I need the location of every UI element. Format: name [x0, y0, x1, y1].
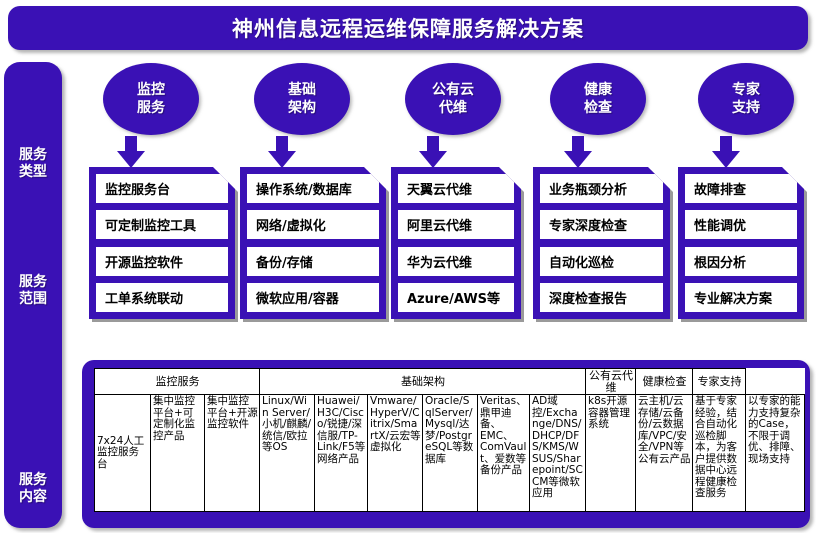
table-header-expert-support: 专家支持 [693, 369, 746, 395]
table-cell: 云主机/云存储/云备份/云数据库/VPC/安全/VPN等公有云产品 [636, 395, 693, 512]
scope-item[interactable]: 微软应用/容器 [247, 283, 379, 312]
scope-card-expert-support: 故障排查 性能调优 根因分析 专业解决方案 [678, 167, 804, 319]
sidebar: 服务 类型 服务 范围 服务 内容 [4, 62, 62, 528]
sidebar-item-service-type: 服务 类型 [4, 147, 62, 181]
scope-item[interactable]: 开源监控软件 [96, 247, 228, 276]
scope-card-infrastructure: 操作系统/数据库 网络/虚拟化 备份/存储 微软应用/容器 [240, 167, 386, 319]
table-cell: k8s开源容器管理系统 [586, 395, 636, 512]
table-header-public-cloud: 公有云代维 [586, 369, 636, 395]
scope-card-public-cloud: 天翼云代维 阿里云代维 华为云代维 Azure/AWS等 [391, 167, 521, 319]
service-type-ellipse-infrastructure[interactable]: 基础架构 [254, 63, 350, 135]
service-content-panel: 监控服务 基础架构 公有云代维 健康检查 专家支持 7x24人工监控服务台 集中… [82, 360, 810, 528]
sidebar-item-service-content-line2: 内容 [4, 489, 62, 506]
table-cell: 7x24人工监控服务台 [95, 395, 151, 512]
table-cell: Veritas、鼎甲迪备、EMC、ComVault、爱数等备份产品 [478, 395, 530, 512]
scope-item[interactable]: 监控服务台 [96, 174, 228, 203]
down-arrow-icon-5 [712, 136, 740, 168]
sidebar-item-service-scope-line2: 范围 [4, 291, 62, 308]
scope-item[interactable]: 专业解决方案 [685, 283, 797, 312]
scope-card-monitoring: 监控服务台 可定制监控工具 开源监控软件 工单系统联动 [89, 167, 235, 319]
service-content-table: 监控服务 基础架构 公有云代维 健康检查 专家支持 7x24人工监控服务台 集中… [94, 368, 805, 512]
scope-item[interactable]: 故障排查 [685, 174, 797, 203]
table-cell: Huawei/H3C/Cisco/锐捷/深信服/TP-Link/F5等网络产品 [315, 395, 368, 512]
scope-item[interactable]: 业务瓶颈分析 [540, 174, 663, 203]
scope-item[interactable]: 工单系统联动 [96, 283, 228, 312]
sidebar-item-service-content-line1: 服务 [4, 472, 62, 489]
scope-item[interactable]: 天翼云代维 [398, 174, 514, 203]
scope-item[interactable]: Azure/AWS等 [398, 283, 514, 312]
service-type-ellipse-expert-support-label: 专家支持 [732, 81, 760, 117]
table-cell: Vmware/HyperV/Citrix/SmartX/云宏等虚拟化 [368, 395, 423, 512]
table-cell: 集中监控平台+可定制化监控产品 [151, 395, 205, 512]
scope-item[interactable]: 备份/存储 [247, 247, 379, 276]
scope-item[interactable]: 性能调优 [685, 210, 797, 239]
service-type-ellipse-monitoring-label: 监控服务 [137, 81, 165, 117]
scope-item[interactable]: 根因分析 [685, 247, 797, 276]
service-type-ellipse-monitoring[interactable]: 监控服务 [103, 63, 199, 135]
table-cell: 集中监控平台+开源监控软件 [205, 395, 260, 512]
sidebar-item-service-type-line1: 服务 [4, 147, 62, 164]
scope-item[interactable]: 自动化巡检 [540, 247, 663, 276]
table-header-infrastructure: 基础架构 [260, 369, 586, 395]
scope-item[interactable]: 华为云代维 [398, 247, 514, 276]
scope-item[interactable]: 网络/虚拟化 [247, 210, 379, 239]
table-header-monitoring: 监控服务 [95, 369, 260, 395]
down-arrow-icon-3 [419, 136, 447, 168]
page-title: 神州信息远程运维保障服务解决方案 [232, 13, 584, 43]
scope-item[interactable]: 可定制监控工具 [96, 210, 228, 239]
scope-item[interactable]: 操作系统/数据库 [247, 174, 379, 203]
scope-item[interactable]: 专家深度检查 [540, 210, 663, 239]
scope-card-health-check: 业务瓶颈分析 专家深度检查 自动化巡检 深度检查报告 [533, 167, 670, 319]
table-header-row: 监控服务 基础架构 公有云代维 健康检查 专家支持 [95, 369, 805, 395]
table-cell: 基于专家经验，结合自动化巡检脚本，为客户提供数据中心远程健康检查服务 [693, 395, 746, 512]
sidebar-item-service-scope-line1: 服务 [4, 274, 62, 291]
service-type-ellipse-infrastructure-label: 基础架构 [288, 81, 316, 117]
scope-item[interactable]: 阿里云代维 [398, 210, 514, 239]
service-type-ellipse-public-cloud-label: 公有云代维 [432, 81, 474, 117]
down-arrow-icon-4 [564, 136, 592, 168]
service-type-ellipse-health-check[interactable]: 健康检查 [550, 63, 646, 135]
sidebar-item-service-content: 服务 内容 [4, 472, 62, 506]
scope-item[interactable]: 深度检查报告 [540, 283, 663, 312]
down-arrow-icon-2 [268, 136, 296, 168]
table-cell: AD域控/Exchange/DNS/DHCP/DFS/KMS/WSUS/Shar… [530, 395, 586, 512]
table-cell: Oracle/SqlServer/Mysql/达梦/PostgreSQL等数据库 [423, 395, 478, 512]
table-header-health-check: 健康检查 [636, 369, 693, 395]
table-cell: Linux/Win Server/小机/麒麟/统信/欧拉等OS [260, 395, 315, 512]
sidebar-item-service-scope: 服务 范围 [4, 274, 62, 308]
service-type-ellipse-expert-support[interactable]: 专家支持 [698, 63, 794, 135]
sidebar-item-service-type-line2: 类型 [4, 164, 62, 181]
page-title-banner: 神州信息远程运维保障服务解决方案 [8, 6, 808, 50]
service-type-ellipse-public-cloud[interactable]: 公有云代维 [405, 63, 501, 135]
table-cell: 以专家的能力支持复杂的Case，不限于调优、排障、现场支持 [746, 395, 805, 512]
service-type-ellipse-health-check-label: 健康检查 [584, 81, 612, 117]
table-row: 7x24人工监控服务台 集中监控平台+可定制化监控产品 集中监控平台+开源监控软… [95, 395, 805, 512]
down-arrow-icon-1 [117, 136, 145, 168]
